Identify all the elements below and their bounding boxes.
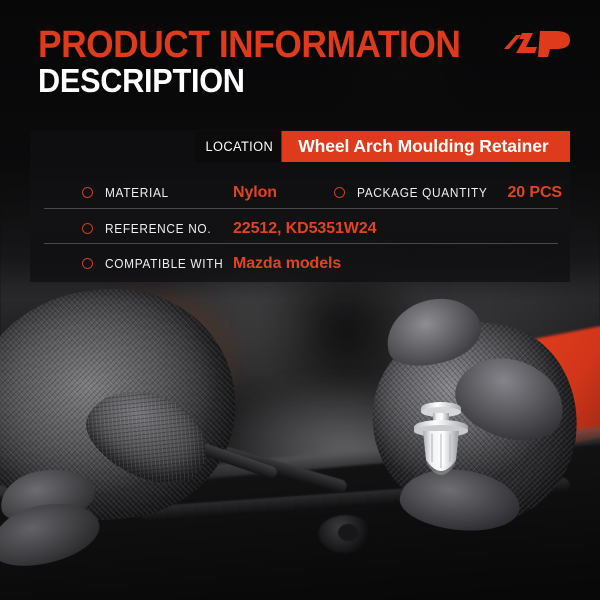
location-row: LOCATION Wheel Arch Moulding Retainer — [195, 131, 570, 162]
bullet-icon — [82, 175, 105, 210]
spec-row: REFERENCE NO. 22512, KD5351W24 — [30, 211, 570, 246]
spec-label: REFERENCE NO. — [105, 222, 211, 236]
product-information-graphic: PRODUCT INFORMATION DESCRIPTION LOCATION… — [0, 0, 600, 600]
spec-value: Nylon — [233, 184, 277, 202]
bullet-icon — [334, 175, 357, 210]
location-badge-label: LOCATION — [195, 131, 282, 162]
page-title: PRODUCT INFORMATION — [38, 24, 460, 66]
spec-value: 22512, KD5351W24 — [233, 220, 376, 238]
spec-row: COMPATIBLE WITH Mazda models — [30, 246, 570, 281]
bullet-icon — [82, 246, 105, 281]
header: PRODUCT INFORMATION DESCRIPTION — [0, 0, 600, 120]
ap-brand-logo-icon — [502, 27, 574, 61]
push-retainer-clip — [405, 398, 477, 494]
spec-row: MATERIAL Nylon PACKAGE QUANTITY 20 PCS — [30, 175, 570, 210]
location-value: Wheel Arch Moulding Retainer — [286, 131, 570, 162]
spec-label: PACKAGE QUANTITY — [357, 186, 488, 200]
spec-value: 20 PCS — [507, 184, 562, 202]
spec-value: Mazda models — [233, 255, 341, 273]
bullet-icon — [82, 211, 105, 246]
spec-label: MATERIAL — [105, 186, 169, 200]
spec-label: COMPATIBLE WITH — [105, 257, 223, 271]
wiper-pivot-hole — [338, 524, 358, 541]
page-subtitle: DESCRIPTION — [38, 62, 245, 100]
